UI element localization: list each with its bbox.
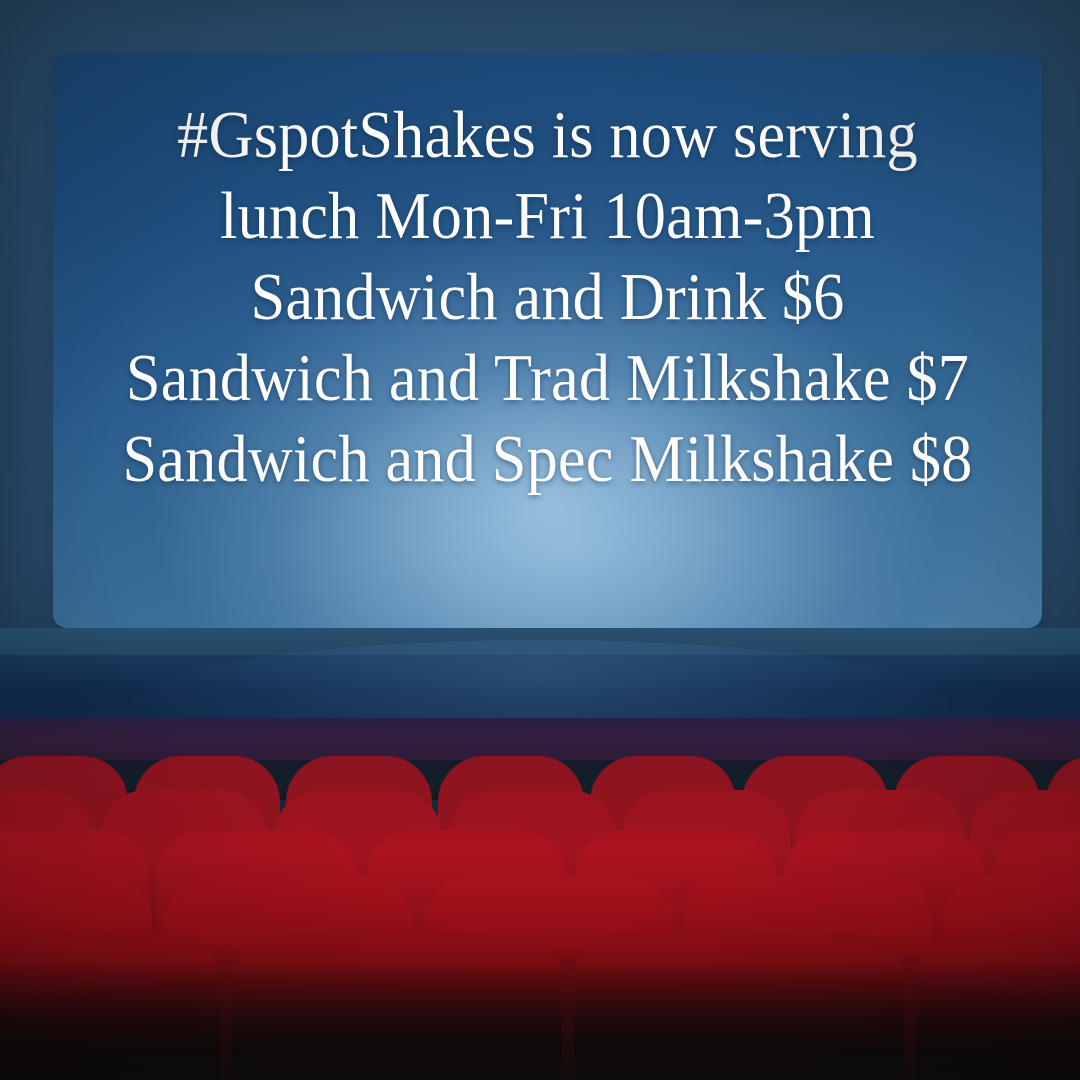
announcement-line-5: Sandwich and Spec Milkshake $8	[88, 419, 1008, 500]
theater-seat	[232, 932, 562, 1080]
announcement-text: #GspotShakes is now serving lunch Mon-Fr…	[88, 95, 1008, 500]
band-screen-base	[0, 628, 1080, 658]
theater-seat	[0, 932, 220, 1080]
cinema-poster: #GspotShakes is now serving lunch Mon-Fr…	[0, 0, 1080, 1080]
seating-area	[0, 752, 1080, 1080]
seat-row-front	[0, 932, 1080, 1080]
announcement-line-4: Sandwich and Trad Milkshake $7	[88, 338, 1008, 419]
announcement-line-2: lunch Mon-Fri 10am-3pm	[88, 176, 1008, 257]
band-wall-lower	[0, 655, 1080, 721]
theater-seat	[574, 932, 904, 1080]
cinema-screen: #GspotShakes is now serving lunch Mon-Fr…	[53, 53, 1042, 628]
announcement-line-3: Sandwich and Drink $6	[88, 257, 1008, 338]
theater-seat	[916, 932, 1080, 1080]
announcement-line-1: #GspotShakes is now serving	[88, 95, 1008, 176]
